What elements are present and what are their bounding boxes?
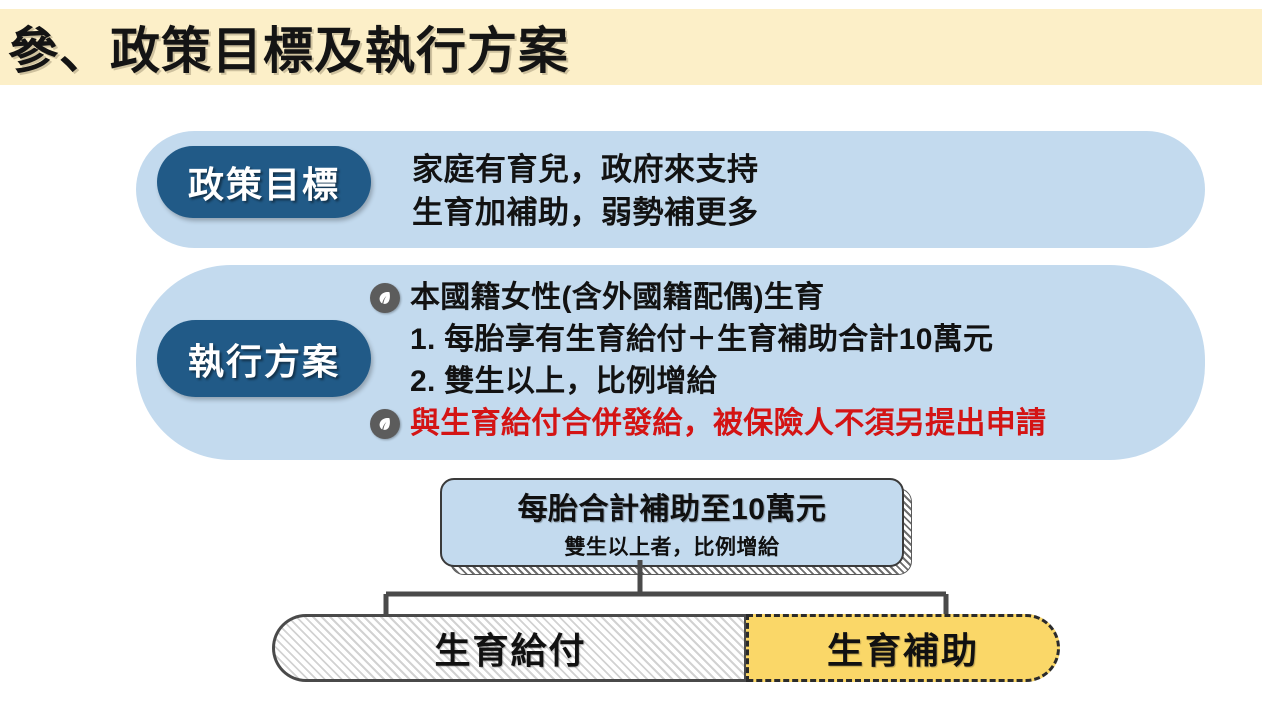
execution-plan-item-text: 本國籍女性(含外國籍配偶)生育 (410, 278, 824, 318)
bracket-connector (260, 560, 1020, 622)
birth-payment-segment[interactable]: 生育給付 (272, 614, 746, 682)
callout-line-2: 雙生以上者，比例增給 (565, 531, 780, 561)
callout-line-1: 每胎合計補助至10萬元 (518, 484, 827, 528)
page-title: 參、政策目標及執行方案 (8, 11, 569, 83)
execution-plan-label-pill: 執行方案 (157, 320, 371, 397)
leaf-icon (370, 409, 400, 439)
execution-plan-item-text: 2. 雙生以上，比例增給 (410, 362, 717, 402)
birth-payment-label: 生育給付 (434, 622, 586, 674)
list-item: 與生育給付合併發給，被保險人不須另提出申請 (370, 404, 1200, 446)
policy-goal-line-2: 生育加補助，弱勢補更多 (412, 191, 759, 234)
execution-plan-list: 本國籍女性(含外國籍配偶)生育 1. 每胎享有生育給付＋生育補助合計10萬元 2… (370, 278, 1200, 446)
callout-box: 每胎合計補助至10萬元 雙生以上者，比例增給 (440, 478, 904, 567)
title-banner: 參、政策目標及執行方案 (0, 9, 1262, 85)
policy-goal-body: 家庭有育兒，政府來支持 生育加補助，弱勢補更多 (412, 148, 759, 234)
policy-goal-line-1: 家庭有育兒，政府來支持 (412, 148, 759, 191)
policy-goal-label-text: 政策目標 (188, 156, 340, 208)
birth-subsidy-label: 生育補助 (827, 622, 979, 674)
birth-subsidy-segment[interactable]: 生育補助 (746, 614, 1060, 682)
list-item: 2. 雙生以上，比例增給 (370, 362, 1200, 404)
list-item: 1. 每胎享有生育給付＋生育補助合計10萬元 (370, 320, 1200, 362)
execution-plan-item-text-highlight: 與生育給付合併發給，被保險人不須另提出申請 (410, 404, 1046, 444)
policy-goal-label-pill: 政策目標 (157, 146, 371, 218)
leaf-icon (370, 283, 400, 313)
execution-plan-item-text: 1. 每胎享有生育給付＋生育補助合計10萬元 (410, 320, 993, 360)
list-item: 本國籍女性(含外國籍配偶)生育 (370, 278, 1200, 320)
slide-canvas: 參、政策目標及執行方案 政策目標 家庭有育兒，政府來支持 生育加補助，弱勢補更多… (0, 0, 1280, 718)
execution-plan-label-text: 執行方案 (188, 333, 340, 385)
